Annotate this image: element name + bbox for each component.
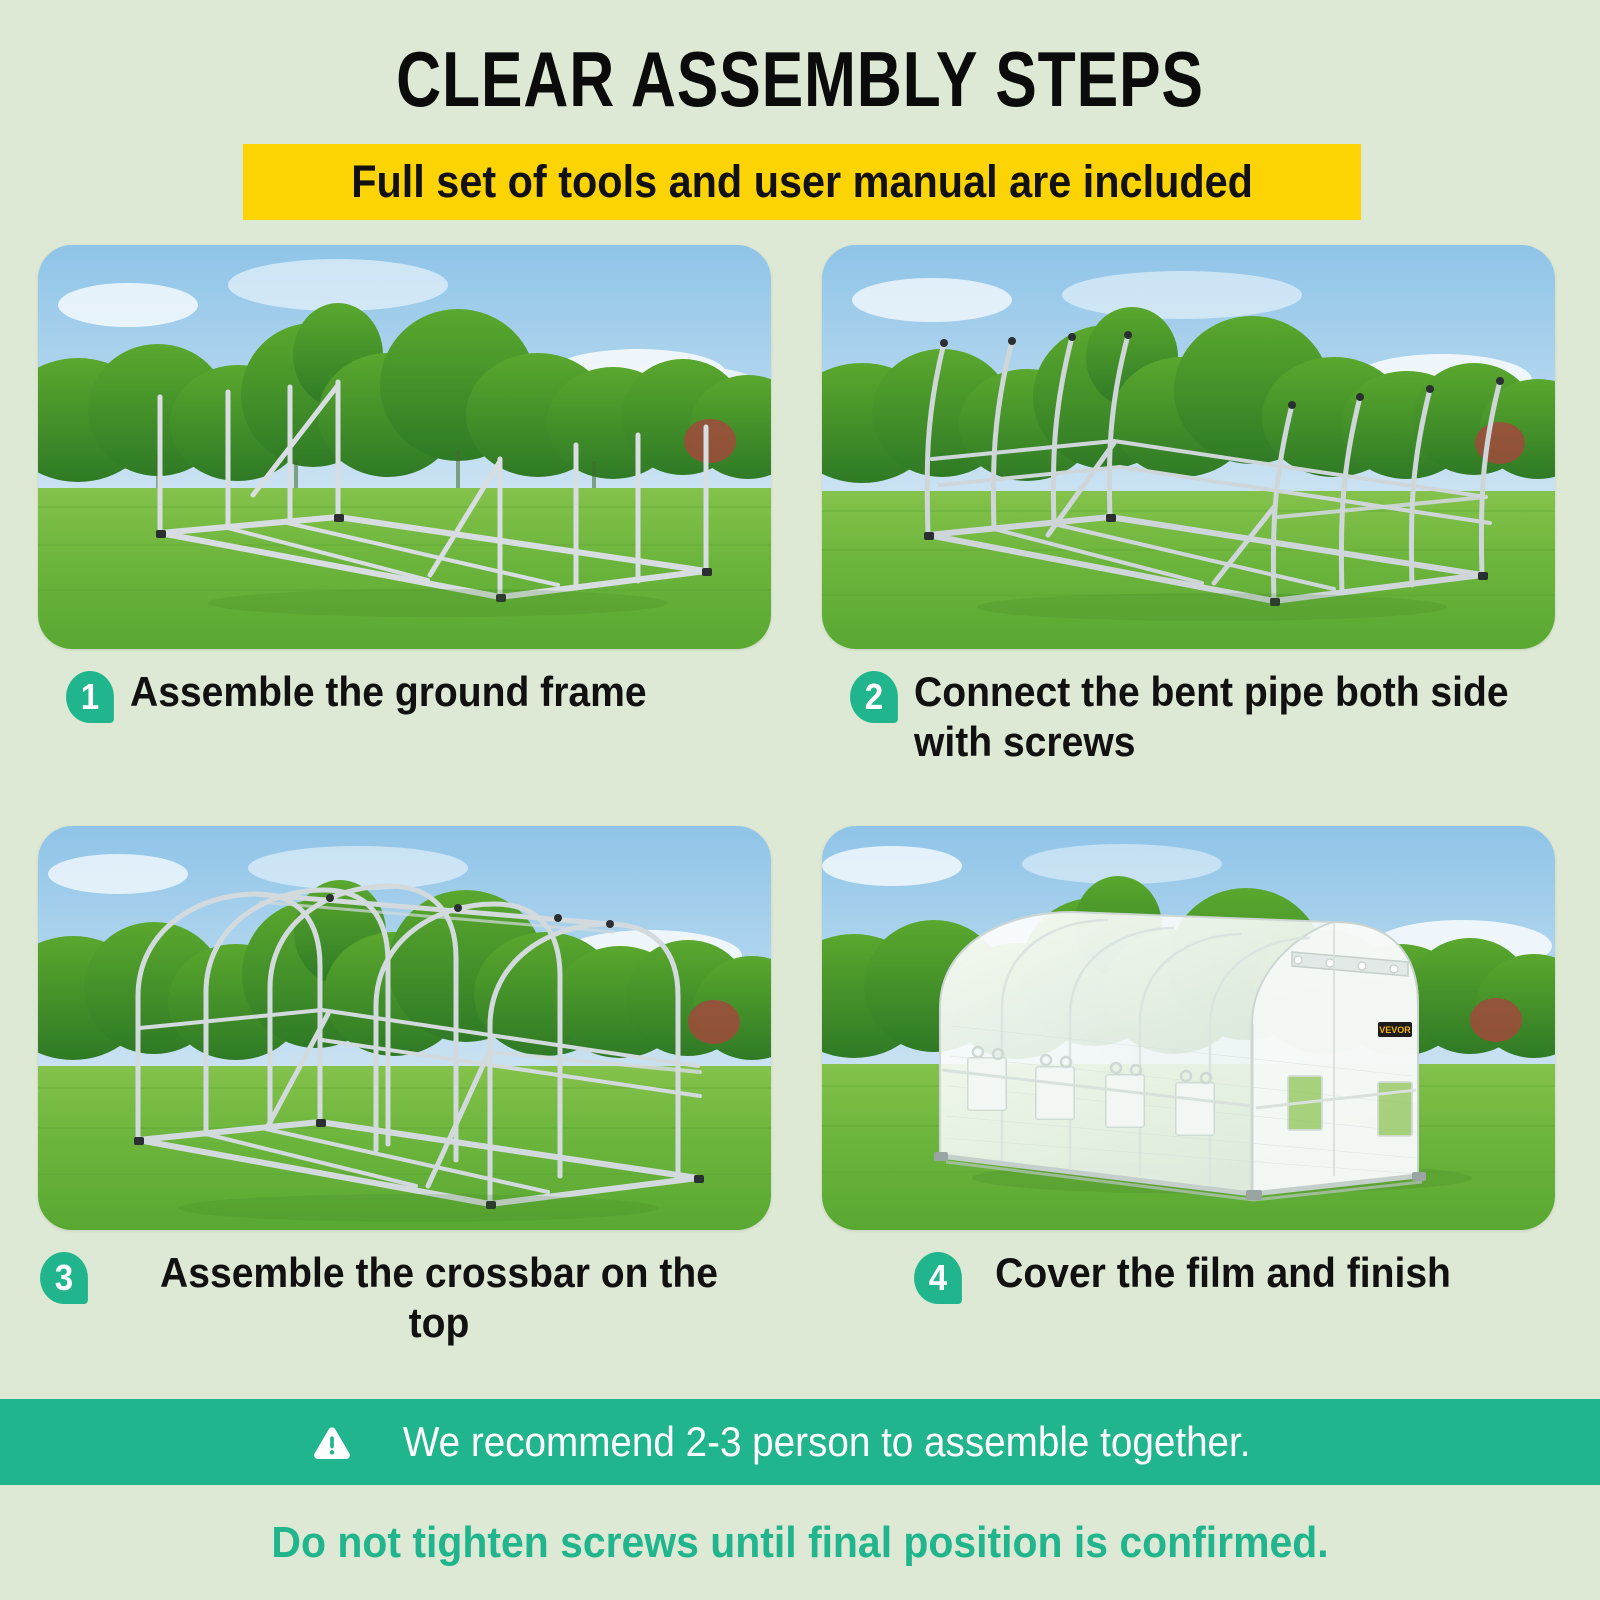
step-caption-2: 2 Connect the bent pipe both side with s… xyxy=(822,667,1562,767)
brand-badge: VEVOR xyxy=(1378,1022,1412,1037)
step-label-4: Cover the film and finish xyxy=(995,1248,1451,1298)
step-card-1: 1 Assemble the ground frame xyxy=(38,245,778,818)
crossbar-photo xyxy=(38,826,771,1230)
step-caption-3: 3 Assemble the crossbar on the top xyxy=(38,1248,778,1348)
footer-note: Do not tighten screws until final positi… xyxy=(56,1485,1544,1600)
step-caption-4: 4 Cover the film and finish xyxy=(822,1248,1562,1304)
finished-greenhouse-photo: VEVOR xyxy=(822,826,1555,1230)
warning-triangle-icon xyxy=(312,1423,352,1463)
header: CLEAR ASSEMBLY STEPS Full set of tools a… xyxy=(0,0,1600,245)
page-title: CLEAR ASSEMBLY STEPS xyxy=(160,38,1440,120)
steps-grid: 1 Assemble the ground frame xyxy=(0,245,1600,1399)
subtitle-highlight-box: Full set of tools and user manual are in… xyxy=(243,144,1361,220)
step-label-1: Assemble the ground frame xyxy=(130,667,647,717)
step-label-3: Assemble the crossbar on the top xyxy=(127,1248,750,1348)
step-caption-1: 1 Assemble the ground frame xyxy=(38,667,778,723)
svg-text:VEVOR: VEVOR xyxy=(1379,1025,1411,1035)
footer: We recommend 2-3 person to assemble toge… xyxy=(0,1399,1600,1600)
subtitle-text: Full set of tools and user manual are in… xyxy=(351,158,1253,206)
recommendation-banner: We recommend 2-3 person to assemble toge… xyxy=(0,1399,1600,1485)
step-card-2: 2 Connect the bent pipe both side with s… xyxy=(822,245,1562,818)
assembly-steps-infographic: CLEAR ASSEMBLY STEPS Full set of tools a… xyxy=(0,0,1600,1600)
step-card-4: VEVOR 4 Cover the film and finish xyxy=(822,826,1562,1399)
step-label-2: Connect the bent pipe both side with scr… xyxy=(914,667,1513,767)
step-number-badge-4: 4 xyxy=(914,1252,962,1304)
step-number-badge-3: 3 xyxy=(40,1252,88,1304)
ground-frame-photo xyxy=(38,245,771,649)
step-number-badge-2: 2 xyxy=(850,671,898,723)
bent-pipe-photo xyxy=(822,245,1555,649)
step-card-3: 3 Assemble the crossbar on the top xyxy=(38,826,778,1399)
recommendation-text: We recommend 2-3 person to assemble toge… xyxy=(403,1419,1251,1465)
step-number-badge-1: 1 xyxy=(66,671,114,723)
